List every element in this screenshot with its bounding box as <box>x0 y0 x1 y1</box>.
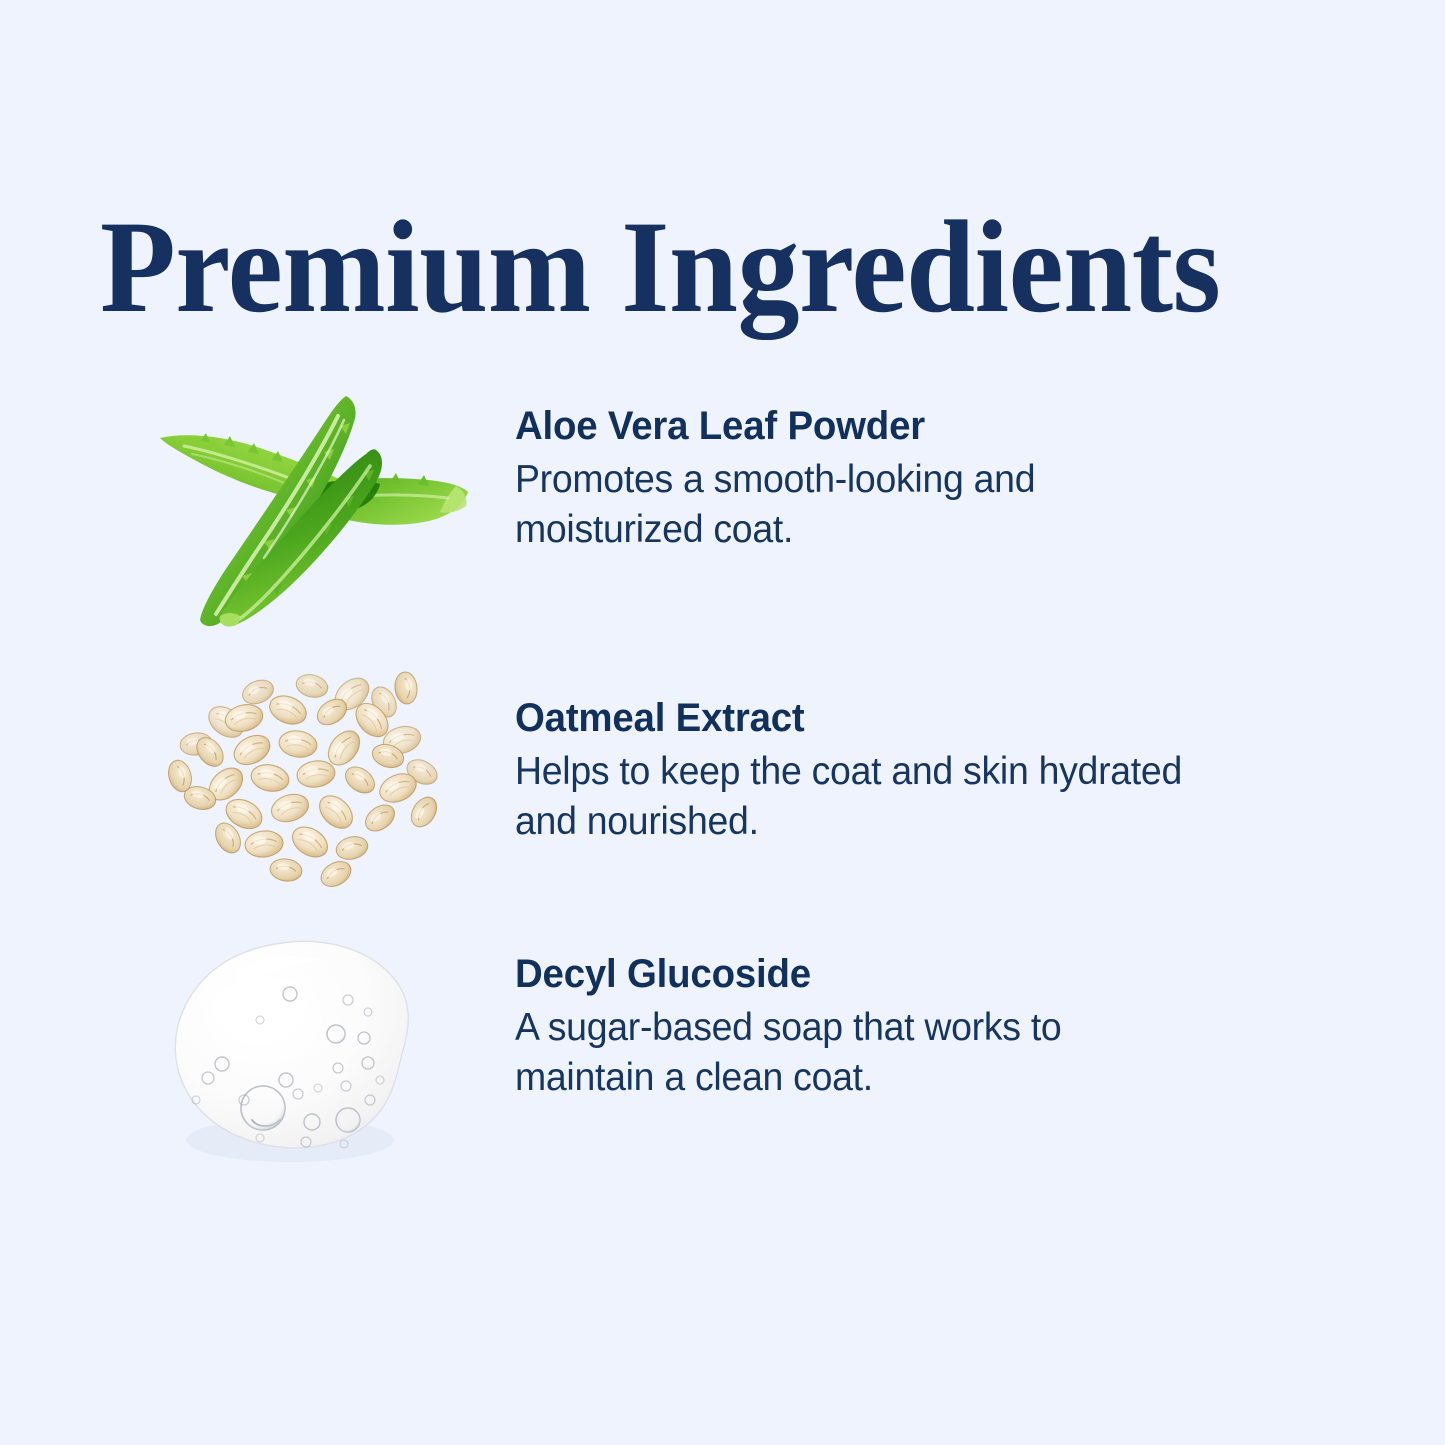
ingredient-text-block: Decyl Glucoside A sugar-based soap that … <box>470 928 1340 1104</box>
ingredient-item: Oatmeal Extract Helps to keep the coat a… <box>140 648 1340 898</box>
ingredient-name: Aloe Vera Leaf Powder <box>515 404 1307 449</box>
ingredient-text-block: Oatmeal Extract Helps to keep the coat a… <box>470 648 1340 848</box>
premium-ingredients-panel: Premium Ingredients <box>0 0 1445 1445</box>
oatmeal-flakes-image <box>140 648 470 898</box>
ingredient-item: Decyl Glucoside A sugar-based soap that … <box>140 928 1340 1178</box>
ingredient-item: Aloe Vera Leaf Powder Promotes a smooth-… <box>140 390 1340 630</box>
ingredient-name: Decyl Glucoside <box>515 952 1307 997</box>
ingredient-description: Helps to keep the coat and skin hydrated… <box>515 747 1206 848</box>
ingredient-name: Oatmeal Extract <box>515 696 1307 741</box>
ingredient-text-block: Aloe Vera Leaf Powder Promotes a smooth-… <box>470 390 1340 556</box>
gel-droplet-image <box>140 928 470 1178</box>
ingredient-list: Aloe Vera Leaf Powder Promotes a smooth-… <box>0 0 1445 1445</box>
ingredient-description: Promotes a smooth-looking and moisturize… <box>515 455 1206 556</box>
aloe-vera-leaves-image <box>140 390 470 630</box>
ingredient-description: A sugar-based soap that works to maintai… <box>515 1003 1206 1104</box>
